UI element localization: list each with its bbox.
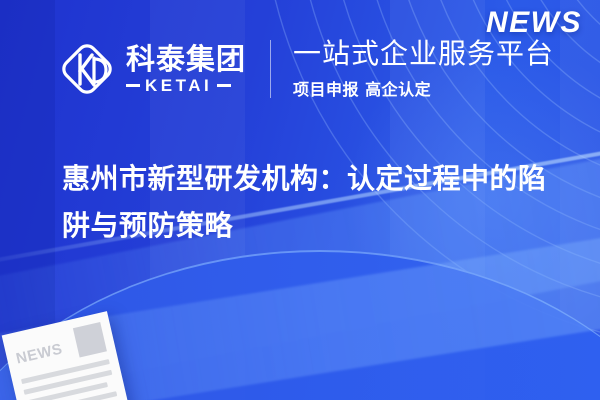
news-banner: NEWS 科泰集团 KETAI 一站式 bbox=[0, 0, 600, 400]
slogan-block: 一站式企业服务平台 项目申报 高企认定 bbox=[293, 38, 554, 100]
brand-name-en: KETAI bbox=[145, 77, 212, 94]
dash-right-icon bbox=[217, 84, 231, 87]
slogan-main: 一站式企业服务平台 bbox=[293, 38, 554, 70]
header-divider bbox=[270, 40, 271, 98]
image-placeholder-icon bbox=[73, 322, 107, 358]
dash-left-icon bbox=[126, 84, 140, 87]
brand-name-cn: 科泰集团 bbox=[126, 44, 246, 74]
slogan-sub: 项目申报 高企认定 bbox=[293, 76, 554, 100]
news-badge: NEWS bbox=[486, 6, 582, 40]
brand-name-en-row: KETAI bbox=[126, 77, 246, 94]
brand-wordmark: 科泰集团 KETAI bbox=[126, 44, 246, 94]
page-title: 惠州市新型研发机构：认定过程中的陷阱与预防策略 bbox=[62, 155, 562, 249]
newspaper-title: NEWS bbox=[15, 341, 64, 366]
brand-header: 科泰集团 KETAI 一站式企业服务平台 项目申报 高企认定 bbox=[58, 38, 554, 100]
ketai-diamond-kd-monogram-icon bbox=[58, 38, 116, 100]
